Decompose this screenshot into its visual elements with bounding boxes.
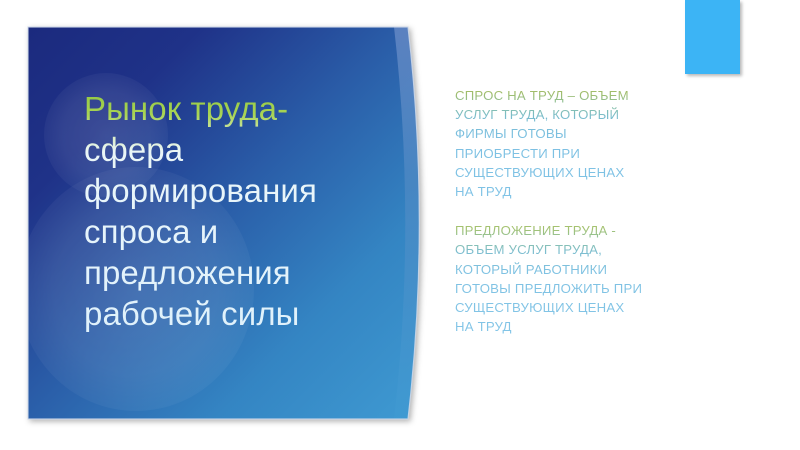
definition-labour-demand: СПРОС НА ТРУД – ОБЪЕМ УСЛУГ ТРУДА, КОТОР… <box>455 86 695 201</box>
accent-rectangle <box>685 0 740 74</box>
definition-labour-supply: ПРЕДЛОЖЕНИЕ ТРУДА - ОБЪЕМ УСЛУГ ТРУДА, К… <box>455 221 695 336</box>
slide-title: Рынок труда- сфера формирования спроса и… <box>84 88 394 334</box>
slide-canvas: Рынок труда- сфера формирования спроса и… <box>0 0 800 450</box>
body-text-block: СПРОС НА ТРУД – ОБЪЕМ УСЛУГ ТРУДА, КОТОР… <box>455 86 695 336</box>
